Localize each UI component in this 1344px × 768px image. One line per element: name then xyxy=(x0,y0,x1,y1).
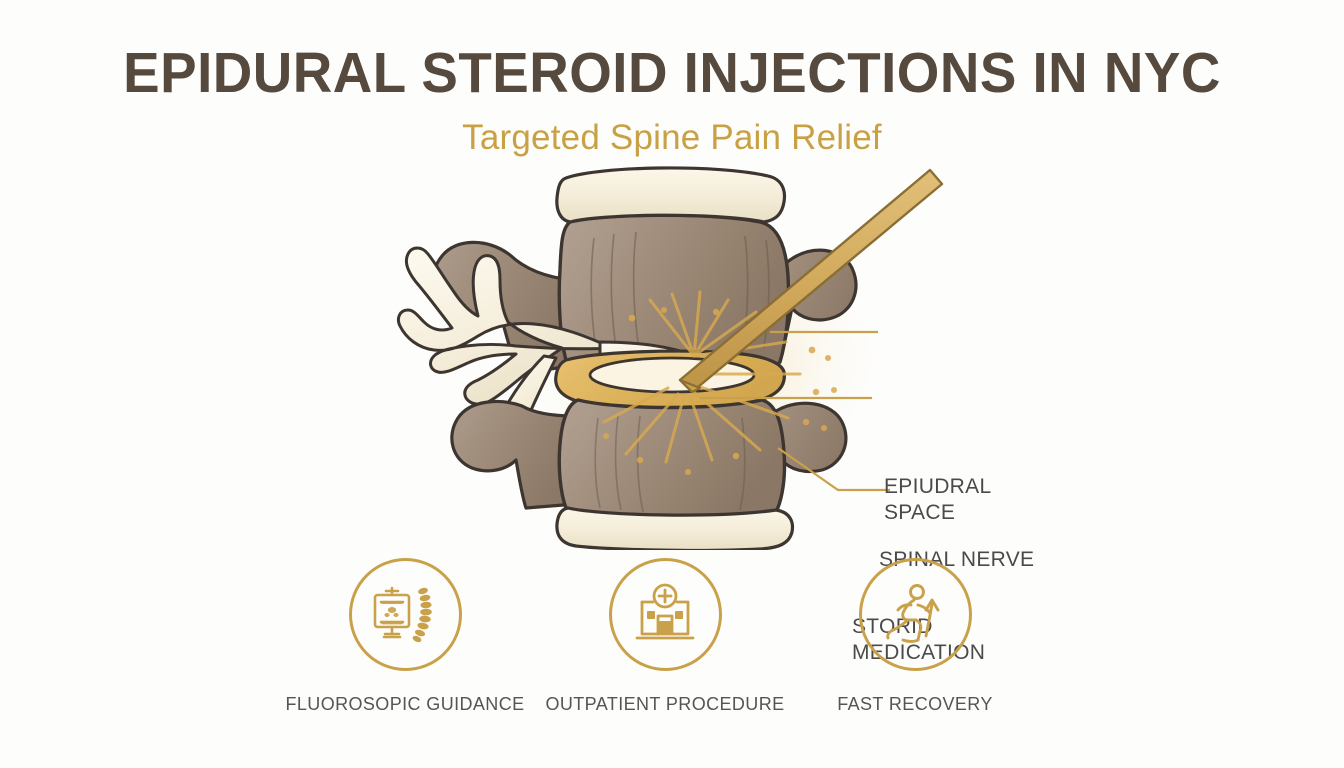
lower-vertebral-body xyxy=(559,400,784,523)
feature-fast-recovery: FAST RECOVERY xyxy=(765,558,1065,715)
xray-monitor-spine-icon xyxy=(368,578,442,652)
feature-label: FLUOROSOPIC GUIDANCE xyxy=(255,694,555,715)
hospital-building-cross-icon xyxy=(628,578,702,652)
feature-fluoroscopic-guidance: FLUOROSOPIC GUIDANCE xyxy=(255,558,555,715)
inferior-endplate xyxy=(557,508,793,550)
lower-vertebra xyxy=(452,400,846,550)
feature-row: FLUOROSOPIC GUIDANCE xyxy=(0,558,1344,728)
vertebra-diagram-svg xyxy=(0,160,1344,550)
infographic-poster: EPIDURAL STEROID INJECTIONS IN NYC Targe… xyxy=(0,0,1344,768)
feature-icon-circle xyxy=(859,558,972,671)
lower-left-process xyxy=(452,402,576,508)
feature-label: FAST RECOVERY xyxy=(765,694,1065,715)
superior-endplate xyxy=(557,168,785,222)
callout-label-epidural-space: EPIUDRAL SPACE xyxy=(884,474,991,525)
anatomy-illustration: EPIUDRAL SPACE SPINAL NERVE STORID MEDIC… xyxy=(0,160,1344,550)
page-subtitle: Targeted Spine Pain Relief xyxy=(0,118,1344,158)
running-person-arrow-up-icon xyxy=(878,578,952,652)
feature-icon-circle xyxy=(349,558,462,671)
page-title: EPIDURAL STEROID INJECTIONS IN NYC xyxy=(27,44,1317,104)
feature-icon-circle xyxy=(609,558,722,671)
header: EPIDURAL STEROID INJECTIONS IN NYC Targe… xyxy=(0,0,1344,158)
